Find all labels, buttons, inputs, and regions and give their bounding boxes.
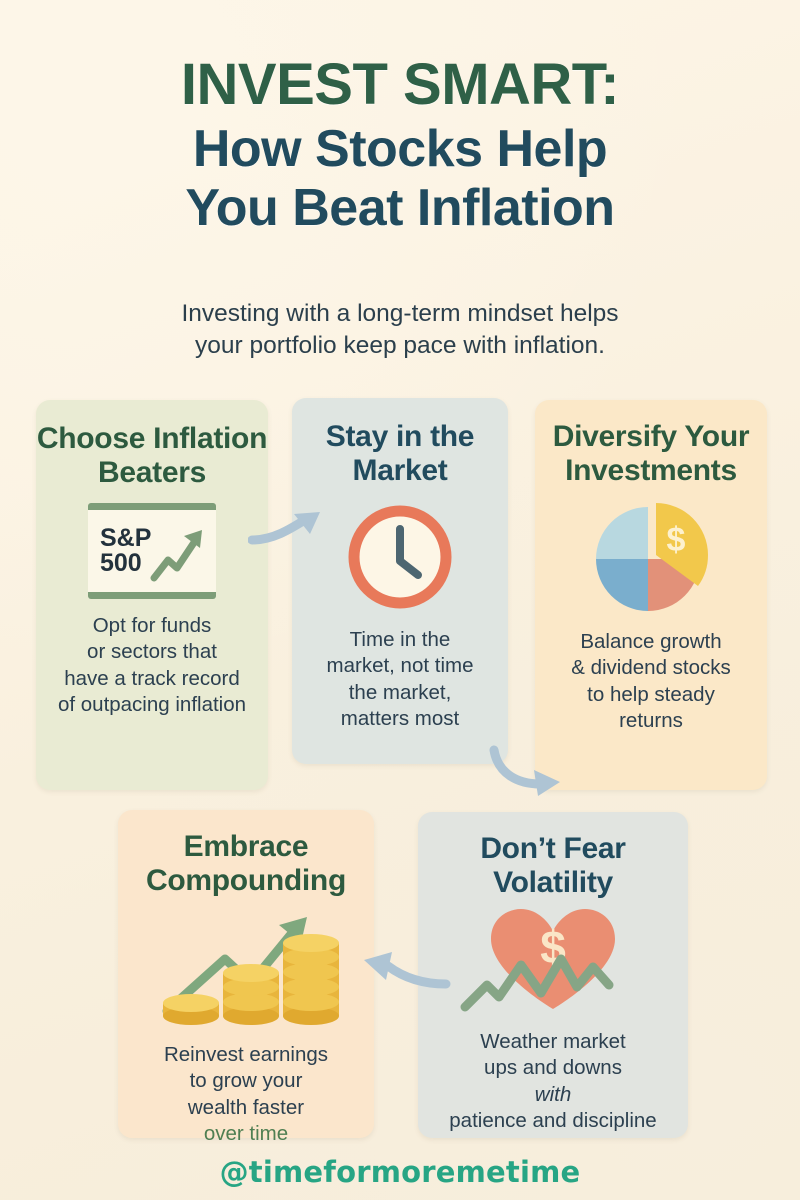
card-choose-title-line2: Inflation [153,422,267,455]
page-title-main: INVEST SMART: [0,56,800,114]
deck-line-1: Investing with a long-term mindset helps [0,298,800,330]
sp500-label-line2: 500 [100,551,151,577]
pie-chart-dollar-icon: $ [535,493,767,619]
card-compound-body-line1: Reinvest earnings [122,1042,370,1068]
card-compound-body-line3-plain: wealth faster [122,1095,370,1121]
card-volatility-body-line3: patience and discipline [422,1108,684,1134]
card-choose-title-line1: Choose [37,422,145,455]
coin-stacks-growth-icon [118,899,374,1034]
card-dont-fear-volatility[interactable]: Don’t Fear Volatility $ Weather market u… [418,812,688,1138]
card-stay-title-line1: Stay in [326,420,422,453]
card-choose-title-line3: Beaters [98,456,206,489]
card-choose-body-line4: of outpacing inflation [44,692,260,718]
heart-dollar-volatility-icon: $ [418,901,688,1021]
card-stay-title: Stay in the Market [292,398,508,487]
sp500-ticker-icon: S&P 500 [36,503,268,599]
card-stay-body-line1: Time in the [298,627,502,653]
card-volatility-body-line2-plain: ups and downs [422,1055,684,1081]
card-diversify-body-line1: Balance growth [541,629,761,655]
card-diversify-title: Diversify Your Investments [535,400,767,487]
card-diversify-body-line3: to help steady [541,682,761,708]
card-compound-body-line3: wealth faster over time [122,1095,370,1147]
card-stay-in-the-market[interactable]: Stay in the Market Time in the market, n… [292,398,508,764]
card-stay-body-line3: the market, [298,680,502,706]
card-choose-title: Choose Inflation Beaters [36,400,268,489]
card-choose-body-line1: Opt for funds [44,613,260,639]
card-choose-body-line3: have a track record [44,666,260,692]
card-diversify-title-line1: Diversify [553,420,677,453]
infographic-page: INVEST SMART: How Stocks Help You Beat I… [0,0,800,1200]
card-diversify-title-line2: Your [684,420,749,453]
social-handle[interactable]: @timeformoremetime [0,1155,800,1189]
card-volatility-title-line1: Don’t Fear [480,832,625,865]
page-title-sub-line2: You Beat Inflation [0,179,800,238]
sp500-ticker-label: S&P 500 [100,526,151,577]
card-compound-title: Embrace Compounding [118,810,374,897]
coin-stack-medium [223,964,279,1025]
coin-stack-large [283,934,339,1025]
deck-line-2: your portfolio keep pace with inflation. [0,330,800,362]
card-volatility-body-line2-italic: with [422,1082,684,1108]
card-compound-title-line1: Embrace [184,830,309,863]
sp500-label-line1: S&P [100,526,151,552]
page-title-sub-line1: How Stocks Help [0,120,800,179]
card-choose-body: Opt for funds or sectors that have a tra… [36,613,268,718]
coin-stacks-svg [151,899,341,1034]
card-compound-body-line3-accent: over time [122,1121,370,1147]
card-diversify-body: Balance growth & dividend stocks to help… [535,629,767,734]
card-stay-body-line4: matters most [298,706,502,732]
card-compound-body: Reinvest earnings to grow your wealth fa… [118,1042,374,1147]
arrow-volatility-to-compound [348,938,452,996]
coin-stack-small [163,994,219,1025]
card-compound-body-line2: to grow your [122,1068,370,1094]
card-choose-inflation-beaters[interactable]: Choose Inflation Beaters S&P 500 Opt for… [36,400,268,790]
card-choose-body-line2: or sectors that [44,639,260,665]
card-stay-body: Time in the market, not time the market,… [292,627,508,732]
card-volatility-body-line1: Weather market [422,1029,684,1055]
heart-volatility-svg: $ [457,901,649,1021]
card-compound-title-line2: Compounding [146,864,346,897]
arrow-diversify-to-volatility [488,730,588,802]
card-embrace-compounding[interactable]: Embrace Compounding [118,810,374,1138]
pie-dollar-glyph: $ [667,521,686,559]
card-stay-body-line2: market, not time [298,653,502,679]
card-volatility-body-line2: ups and downs with [422,1055,684,1107]
pie-chart-svg: $ [586,493,716,619]
card-diversify-body-line2: & dividend stocks [541,655,761,681]
card-volatility-title: Don’t Fear Volatility [418,812,688,899]
card-diversify-title-line3: Investments [565,454,737,487]
upward-trend-arrow-icon [150,520,212,586]
page-title-sub: How Stocks Help You Beat Inflation [0,120,800,238]
arrow-choose-to-stay [248,498,338,560]
card-volatility-title-line2: Volatility [493,866,613,899]
card-volatility-body: Weather market ups and downs with patien… [418,1029,688,1134]
sp500-ticker-box: S&P 500 [88,503,216,599]
clock-icon-svg [342,499,458,615]
subtitle-deck: Investing with a long-term mindset helps… [0,298,800,363]
header: INVEST SMART: How Stocks Help You Beat I… [0,56,800,238]
